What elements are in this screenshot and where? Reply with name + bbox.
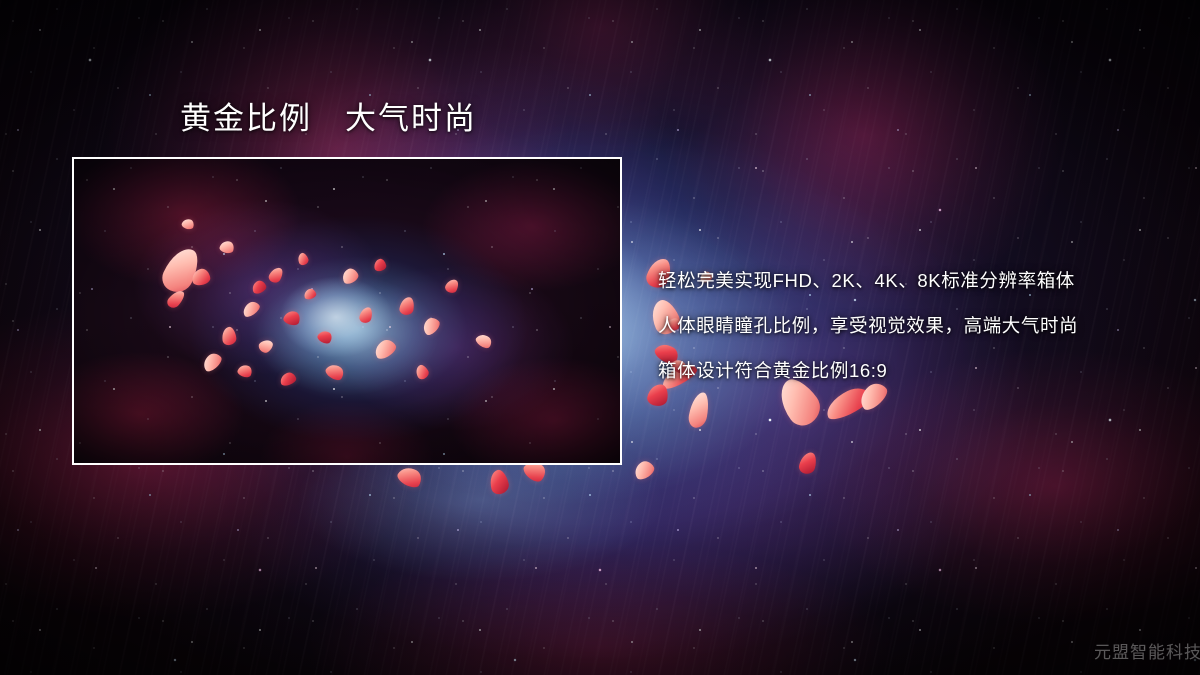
body-line: 轻松完美实现FHD、2K、4K、8K标准分辨率箱体 [658, 258, 1178, 303]
body-copy: 轻松完美实现FHD、2K、4K、8K标准分辨率箱体 人体眼睛瞳孔比例，享受视觉效… [658, 258, 1178, 393]
photo-frame[interactable] [72, 157, 622, 465]
petal [631, 458, 656, 482]
frame-vignette [74, 159, 620, 463]
presentation-slide: 黄金比例 大气时尚 轻松完美实现FHD、2K、4K、8K标准分辨率箱体 人体眼睛… [0, 0, 1200, 675]
slide-title: 黄金比例 大气时尚 [180, 100, 477, 139]
body-line: 箱体设计符合黄金比例16:9 [658, 348, 1178, 393]
petal [395, 463, 425, 491]
body-line: 人体眼睛瞳孔比例，享受视觉效果，高端大气时尚 [658, 303, 1178, 348]
petal [687, 391, 711, 430]
petal [798, 450, 819, 475]
petal [487, 468, 510, 496]
photo-frame-content [74, 159, 620, 463]
watermark: 元盟智能科技 [1094, 638, 1200, 663]
